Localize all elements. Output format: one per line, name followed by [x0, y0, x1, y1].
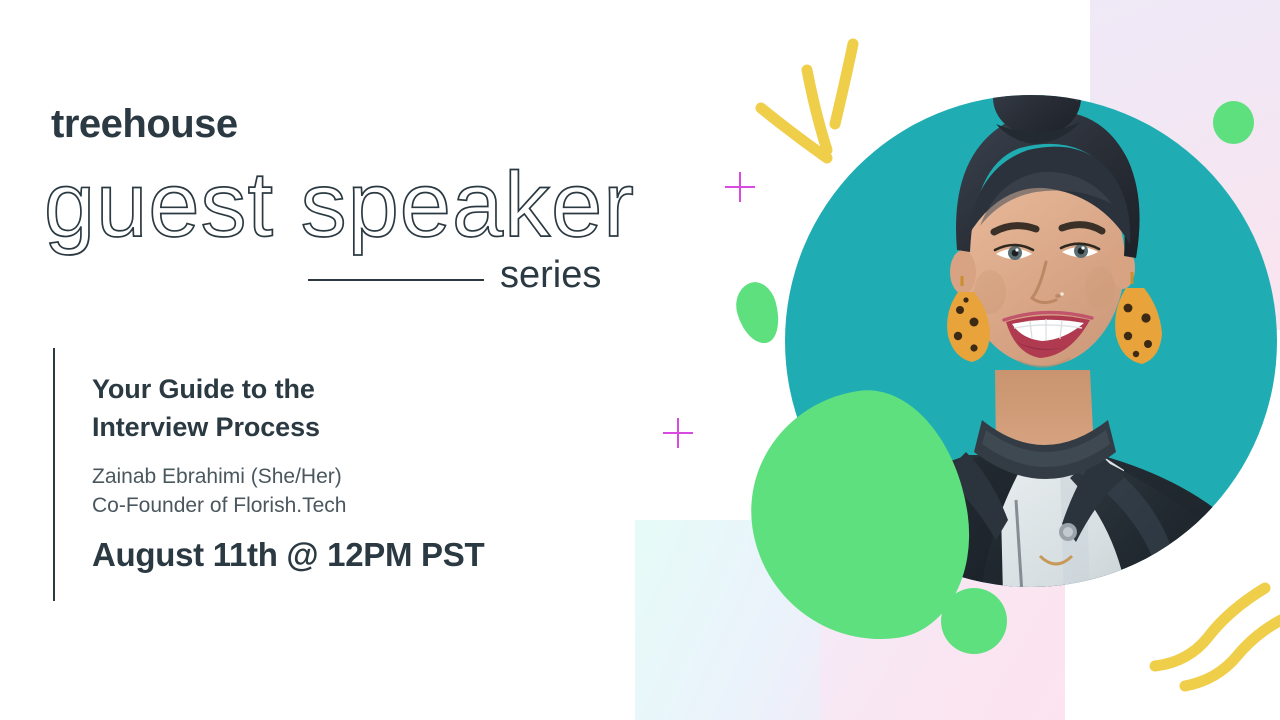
wavy-strokes-icon [1145, 570, 1280, 700]
talk-title-line-1: Your Guide to the [92, 370, 492, 408]
headline-outline-label: guest speaker [44, 154, 635, 256]
vertical-accent-rule [53, 348, 55, 601]
green-dot-shape-top [1213, 101, 1254, 144]
plus-mark-icon-upper [725, 172, 755, 202]
promo-graphic: treehouse guest speaker series Your Guid… [0, 0, 1280, 720]
plus-mark-icon-lower [663, 418, 693, 448]
series-divider-rule [308, 279, 484, 281]
speaker-name: Zainab Ebrahimi (She/Her) [92, 462, 342, 492]
sunburst-strokes-icon [735, 30, 895, 190]
talk-title: Your Guide to the Interview Process [92, 370, 492, 447]
green-dot-shape-bottom [941, 588, 1007, 654]
talk-title-line-2: Interview Process [92, 408, 492, 446]
headline-outline-text: guest speaker [44, 152, 644, 262]
brand-wordmark: treehouse [51, 104, 238, 144]
text-column: treehouse guest speaker series Your Guid… [0, 0, 660, 720]
event-datetime: August 11th @ 12PM PST [92, 535, 484, 575]
series-label: series [500, 256, 601, 294]
speaker-role: Co-Founder of Florish.Tech [92, 491, 346, 521]
